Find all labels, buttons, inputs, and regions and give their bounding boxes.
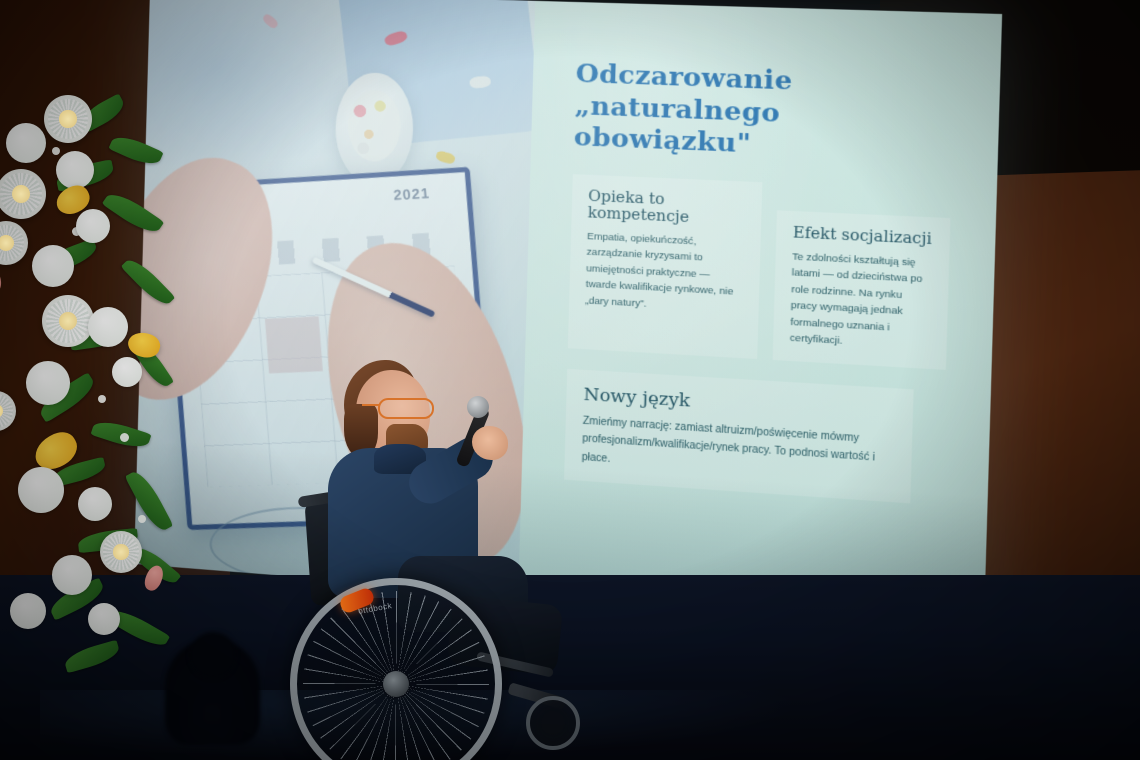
gypsophila xyxy=(138,515,146,523)
slide-title: Odczarowanie „naturalnego obowiązku" xyxy=(573,58,938,168)
card-body: Empatia, opiekuńczość, zarządzanie kryzy… xyxy=(585,228,744,317)
eyeglasses-icon xyxy=(378,398,434,419)
gerbera-bloom xyxy=(0,169,46,219)
gypsophila xyxy=(98,395,106,403)
chrysanthemum xyxy=(26,361,70,405)
gypsophila xyxy=(52,147,60,155)
wheel-hub xyxy=(383,671,409,697)
gerbera-bloom xyxy=(42,295,94,347)
bloom-center xyxy=(0,235,14,251)
chrysanthemum xyxy=(88,307,128,347)
stage-scene: PLANNER 2021 Odczarowanie „naturalnego o… xyxy=(0,0,1140,760)
card-row: Opieka to kompetencje Empatia, opiekuńcz… xyxy=(568,174,951,370)
chrysanthemum xyxy=(10,593,46,629)
bloom-center xyxy=(0,404,3,418)
microphone-head-icon xyxy=(467,396,489,418)
chrysanthemum xyxy=(78,487,112,521)
chrysanthemum xyxy=(32,245,74,287)
chrysanthemum xyxy=(76,209,110,243)
card-heading: Efekt socjalizacji xyxy=(793,224,933,248)
gerbera-bloom xyxy=(44,95,92,143)
leaf xyxy=(121,254,176,310)
gerbera-bloom xyxy=(0,221,28,265)
chrysanthemum xyxy=(18,467,64,513)
floral-arrangement xyxy=(0,95,230,715)
card-efekt: Efekt socjalizacji Te zdolności kształtu… xyxy=(773,210,951,370)
bloom-center xyxy=(59,110,76,127)
chrysanthemum xyxy=(52,555,92,595)
gypsophila xyxy=(120,433,129,442)
leaf xyxy=(102,187,165,238)
card-heading: Opieka to kompetencje xyxy=(587,188,745,229)
speaker-figure: ottobock xyxy=(300,360,600,760)
chrysanthemum xyxy=(112,357,142,387)
chrysanthemum xyxy=(6,123,46,163)
leaf xyxy=(108,131,163,170)
gerbera-bloom xyxy=(100,531,142,573)
card-body: Te zdolności kształtują się latami — od … xyxy=(790,249,933,355)
pink-bud xyxy=(0,261,4,295)
bloom-center xyxy=(113,544,128,559)
bloom-center xyxy=(12,185,30,203)
speaker-hand xyxy=(472,426,508,460)
leaf xyxy=(125,467,174,535)
wheelchair-caster-wheel xyxy=(526,696,580,750)
yellow-flower xyxy=(125,329,162,361)
gerbera-bloom xyxy=(0,391,16,431)
card-opieka: Opieka to kompetencje Empatia, opiekuńcz… xyxy=(568,174,763,359)
bloom-center xyxy=(59,312,78,331)
chrysanthemum xyxy=(56,151,94,189)
leaf xyxy=(62,640,121,674)
chrysanthemum xyxy=(88,603,120,635)
